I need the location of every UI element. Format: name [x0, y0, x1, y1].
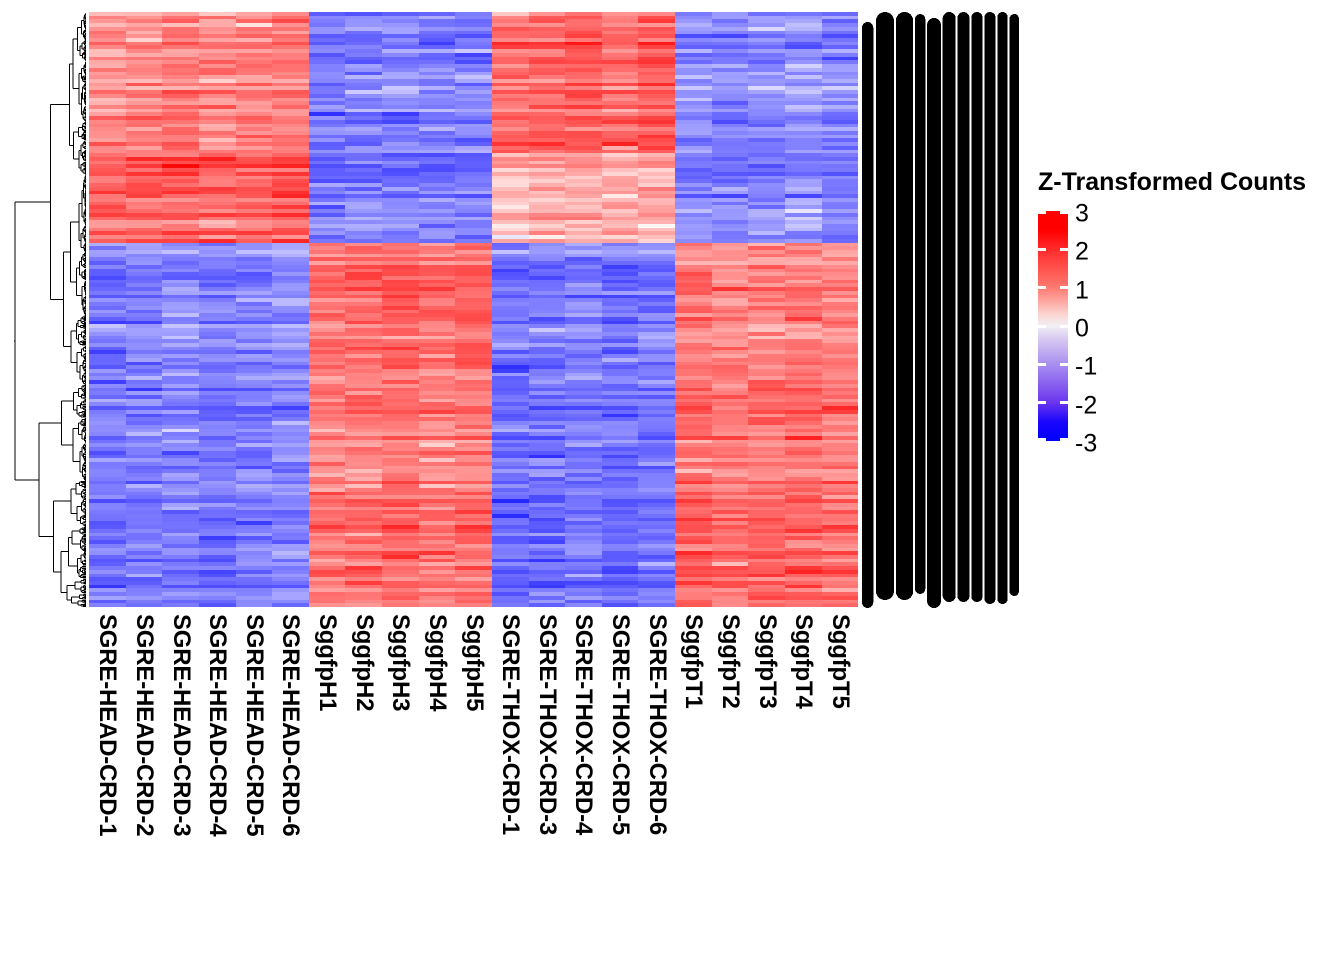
column-label: SggfpH4 — [423, 614, 451, 711]
heatmap-cell — [272, 603, 309, 607]
column-label: SGRE-THOX-CRD-6 — [643, 614, 671, 835]
heatmap-column — [309, 12, 346, 608]
column-label: SGRE-HEAD-CRD-6 — [276, 614, 304, 836]
heatmap-cell — [492, 603, 529, 607]
heatmap-cell — [345, 603, 382, 607]
legend-tick-mark — [1038, 363, 1046, 366]
column-label: SGRE-HEAD-CRD-3 — [167, 614, 195, 836]
column-label: SggfpT1 — [679, 614, 707, 709]
heatmap-cell — [822, 603, 859, 607]
heatmap-column — [638, 12, 675, 608]
column-label: SggfpT2 — [716, 614, 744, 709]
heatmap-cell — [748, 603, 785, 607]
column-label: SGRE-HEAD-CRD-2 — [130, 614, 158, 836]
heatmap-cell — [529, 603, 566, 607]
heatmap-column — [89, 12, 126, 608]
column-label-slot: SGRE-HEAD-CRD-4 — [199, 610, 236, 940]
column-label-slot: SggfpH4 — [419, 610, 456, 940]
heatmap-cell — [382, 603, 419, 607]
column-label-slot: SGRE-HEAD-CRD-5 — [236, 610, 273, 940]
heatmap-column — [565, 12, 602, 608]
column-label-slot: SGRE-HEAD-CRD-2 — [126, 610, 163, 940]
column-label-slot: SggfpT5 — [822, 610, 859, 940]
column-labels: SGRE-HEAD-CRD-1SGRE-HEAD-CRD-2SGRE-HEAD-… — [89, 610, 858, 940]
heatmap-cell — [785, 603, 822, 607]
column-label: SggfpT4 — [789, 614, 817, 709]
legend-tick-mark — [1060, 286, 1068, 289]
legend-tick-label: 3 — [1075, 200, 1089, 229]
column-label-slot: SGRE-HEAD-CRD-1 — [89, 610, 126, 940]
legend-tick-label: -1 — [1075, 353, 1097, 382]
heatmap-column — [419, 12, 456, 608]
heatmap-column — [602, 12, 639, 608]
legend-tick-label: 1 — [1075, 276, 1089, 305]
heatmap-cell — [309, 603, 346, 607]
legend-tick-mark — [1060, 248, 1068, 251]
heatmap-column — [345, 12, 382, 608]
column-label-slot: SggfpT2 — [712, 610, 749, 940]
heatmap-matrix — [89, 12, 858, 608]
legend-tick-mark — [1060, 211, 1068, 214]
legend-tick-mark — [1038, 401, 1046, 404]
legend-colorbar — [1038, 211, 1068, 441]
column-label-slot: SGRE-THOX-CRD-3 — [529, 610, 566, 940]
heatmap-column — [126, 12, 163, 608]
column-label: SggfpH5 — [460, 614, 488, 711]
legend-tick-mark — [1038, 325, 1046, 328]
column-label: SggfpH2 — [350, 614, 378, 711]
column-label-slot: SggfpH2 — [345, 610, 382, 940]
legend-tick-label: -3 — [1075, 430, 1097, 459]
column-label: SGRE-THOX-CRD-5 — [606, 614, 634, 835]
column-label: SGRE-HEAD-CRD-4 — [203, 614, 231, 836]
heatmap-cell — [236, 603, 273, 607]
column-label-slot: SggfpT1 — [675, 610, 712, 940]
legend-tick-mark — [1038, 211, 1046, 214]
column-label-slot: SggfpH3 — [382, 610, 419, 940]
column-label-slot: SggfpH1 — [309, 610, 346, 940]
column-label: SGRE-THOX-CRD-4 — [569, 614, 597, 835]
column-label: SggfpT3 — [753, 614, 781, 709]
column-label-slot: SggfpT3 — [748, 610, 785, 940]
heatmap-cell — [89, 603, 126, 607]
legend-tick-mark — [1060, 438, 1068, 441]
column-dendrogram-svg — [862, 12, 1019, 608]
legend-tick-label: 2 — [1075, 238, 1089, 267]
heatmap-column — [199, 12, 236, 608]
column-label: SGRE-THOX-CRD-3 — [533, 614, 561, 835]
heatmap-cell — [162, 603, 199, 607]
heatmap-column — [748, 12, 785, 608]
heatmap-cell — [199, 603, 236, 607]
legend-tick-mark — [1038, 286, 1046, 289]
column-label: SggfpH3 — [386, 614, 414, 711]
column-label-slot: SGRE-THOX-CRD-6 — [638, 610, 675, 940]
column-label-slot: SggfpT4 — [785, 610, 822, 940]
heatmap-cell — [675, 603, 712, 607]
heatmap-column — [382, 12, 419, 608]
column-label: SggfpH1 — [313, 614, 341, 711]
heatmap-column — [455, 12, 492, 608]
column-label-slot: SGRE-HEAD-CRD-3 — [162, 610, 199, 940]
heatmap-column — [712, 12, 749, 608]
column-label-slot: SGRE-THOX-CRD-4 — [565, 610, 602, 940]
column-label-slot: SGRE-THOX-CRD-5 — [602, 610, 639, 940]
heatmap-cell — [126, 603, 163, 607]
heatmap-column — [272, 12, 309, 608]
legend-tick-mark — [1060, 325, 1068, 328]
legend-title: Z-Transformed Counts — [1038, 168, 1306, 197]
row-dendrogram-svg — [14, 12, 86, 608]
column-label: SggfpT5 — [826, 614, 854, 709]
heatmap-column — [492, 12, 529, 608]
heatmap-column — [236, 12, 273, 608]
heatmap-cell — [565, 603, 602, 607]
legend-tick-mark — [1060, 363, 1068, 366]
legend-tick-mark — [1060, 401, 1068, 404]
heatmap-cell — [602, 603, 639, 607]
column-label: SGRE-THOX-CRD-1 — [496, 614, 524, 835]
legend-tick-label: -2 — [1075, 391, 1097, 420]
column-label-slot: SGRE-HEAD-CRD-6 — [272, 610, 309, 940]
column-label-slot: SGRE-THOX-CRD-1 — [492, 610, 529, 940]
heatmap-cell — [638, 603, 675, 607]
column-dendrogram — [862, 12, 1019, 608]
heatmap-column — [675, 12, 712, 608]
heatmap-column — [822, 12, 859, 608]
heatmap-cell — [712, 603, 749, 607]
legend-tick-label: 0 — [1075, 315, 1089, 344]
heatmap-column — [785, 12, 822, 608]
column-label-slot: SggfpH5 — [455, 610, 492, 940]
heatmap-column — [162, 12, 199, 608]
heatmap-cell — [455, 603, 492, 607]
heatmap-cell — [419, 603, 456, 607]
legend-tick-mark — [1038, 438, 1046, 441]
legend-tick-mark — [1038, 248, 1046, 251]
heatmap-column — [529, 12, 566, 608]
column-label: SGRE-HEAD-CRD-1 — [93, 614, 121, 836]
column-label: SGRE-HEAD-CRD-5 — [240, 614, 268, 836]
row-dendrogram — [14, 12, 86, 608]
